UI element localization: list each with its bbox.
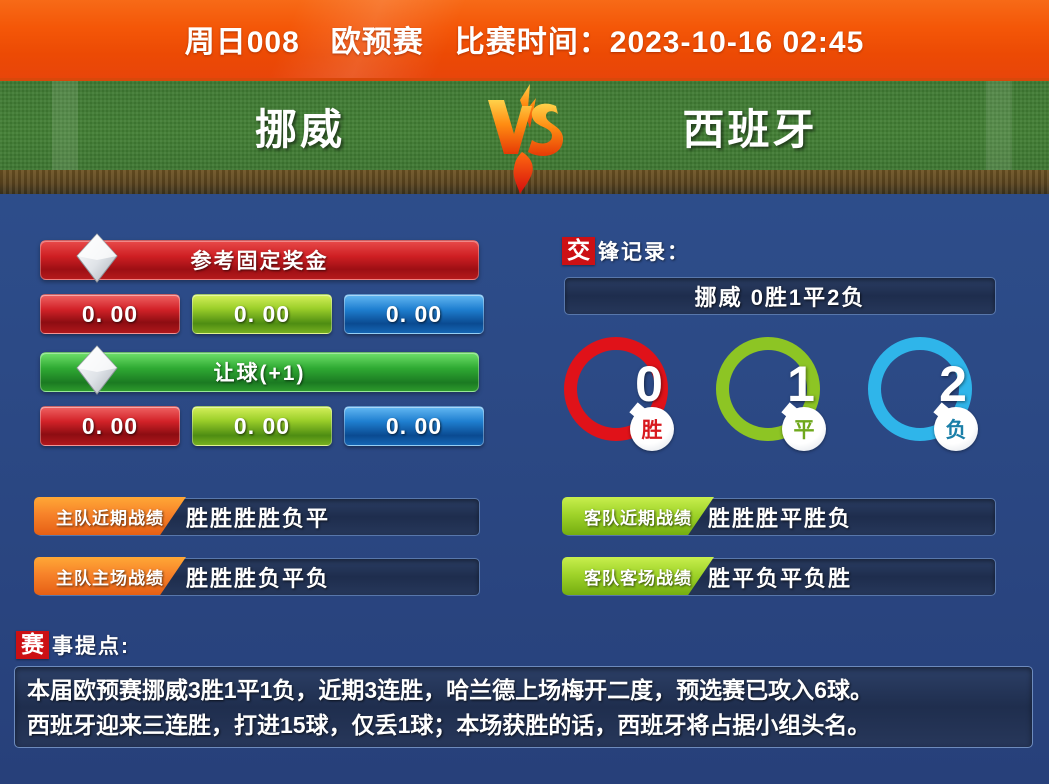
diamond-icon xyxy=(75,344,119,396)
h2h-header-text: 锋记录： xyxy=(598,236,690,266)
ring-value: 2 xyxy=(920,359,986,409)
away-team-name: 西班牙 xyxy=(600,96,900,157)
home-recent-form-value: 胜胜胜胜负平 xyxy=(186,501,330,533)
h2h-ring-draw: 1 平 xyxy=(716,337,836,457)
match-header-bar: 周日008 欧预赛 比赛时间：2023-10-16 02:45 xyxy=(0,0,1049,78)
diamond-icon xyxy=(75,232,119,284)
fixed-bonus-odds-win[interactable]: 0. 00 xyxy=(40,294,180,334)
match-preview-card: 周日008 欧预赛 比赛时间：2023-10-16 02:45 挪威 西班牙 xyxy=(0,0,1049,784)
away-recent-form-value: 胜胜胜平胜负 xyxy=(708,501,852,533)
handicap-odds-lose[interactable]: 0. 00 xyxy=(344,406,484,446)
h2h-ring-win: 0 胜 xyxy=(564,337,684,457)
ring-value: 0 xyxy=(616,359,682,409)
handicap-odds-row: 0. 00 0. 00 0. 00 xyxy=(40,406,484,446)
ring-badge-draw: 平 xyxy=(782,407,826,451)
fixed-bonus-odds-row: 0. 00 0. 00 0. 00 xyxy=(40,294,484,334)
h2h-summary-bar: 挪威 0胜1平2负 xyxy=(564,277,996,315)
away-venue-form-value: 胜平负平负胜 xyxy=(708,561,852,593)
home-venue-form-tag: 主队主场战绩 xyxy=(34,557,186,595)
ring-badge-lose: 负 xyxy=(934,407,978,451)
ring-value: 1 xyxy=(768,359,834,409)
notes-section-header: 赛 事提点: xyxy=(16,630,130,660)
handicap-title: 让球(+1) xyxy=(214,357,306,387)
fixed-bonus-odds-lose[interactable]: 0. 00 xyxy=(344,294,484,334)
home-team-name: 挪威 xyxy=(150,96,450,157)
notes-header-glyph: 赛 xyxy=(16,631,49,659)
away-venue-form-tag: 客队客场战绩 xyxy=(562,557,714,595)
h2h-section-header: 交 锋记录： xyxy=(562,236,690,266)
notes-header-text: 事提点: xyxy=(52,630,130,660)
match-notes-line-1: 本届欧预赛挪威3胜1平1负，近期3连胜，哈兰德上场梅开二度，预选赛已攻入6球。 xyxy=(27,673,1020,708)
home-venue-form-value: 胜胜胜负平负 xyxy=(186,561,330,593)
handicap-title-bar: 让球(+1) xyxy=(40,352,479,392)
ring-badge-label: 胜 xyxy=(642,414,663,444)
match-header-text: 周日008 欧预赛 比赛时间：2023-10-16 02:45 xyxy=(185,17,865,61)
away-recent-form-tag: 客队近期战绩 xyxy=(562,497,714,535)
match-notes-line-2: 西班牙迎来三连胜，打进15球，仅丢1球；本场获胜的话，西班牙将占据小组头名。 xyxy=(27,708,1020,743)
match-notes-box: 本届欧预赛挪威3胜1平1负，近期3连胜，哈兰德上场梅开二度，预选赛已攻入6球。 … xyxy=(14,666,1033,748)
h2h-ring-lose: 2 负 xyxy=(868,337,988,457)
fixed-bonus-title-bar: 参考固定奖金 xyxy=(40,240,479,280)
fixed-bonus-odds-draw[interactable]: 0. 00 xyxy=(192,294,332,334)
ring-badge-label: 负 xyxy=(946,414,967,444)
fixed-bonus-title: 参考固定奖金 xyxy=(191,245,329,275)
home-recent-form-tag: 主队近期战绩 xyxy=(34,497,186,535)
ring-badge-label: 平 xyxy=(794,414,815,444)
header-divider xyxy=(0,78,1049,81)
versus-icon xyxy=(470,82,580,194)
ring-badge-win: 胜 xyxy=(630,407,674,451)
handicap-odds-draw[interactable]: 0. 00 xyxy=(192,406,332,446)
handicap-odds-win[interactable]: 0. 00 xyxy=(40,406,180,446)
h2h-header-glyph: 交 xyxy=(562,237,595,265)
